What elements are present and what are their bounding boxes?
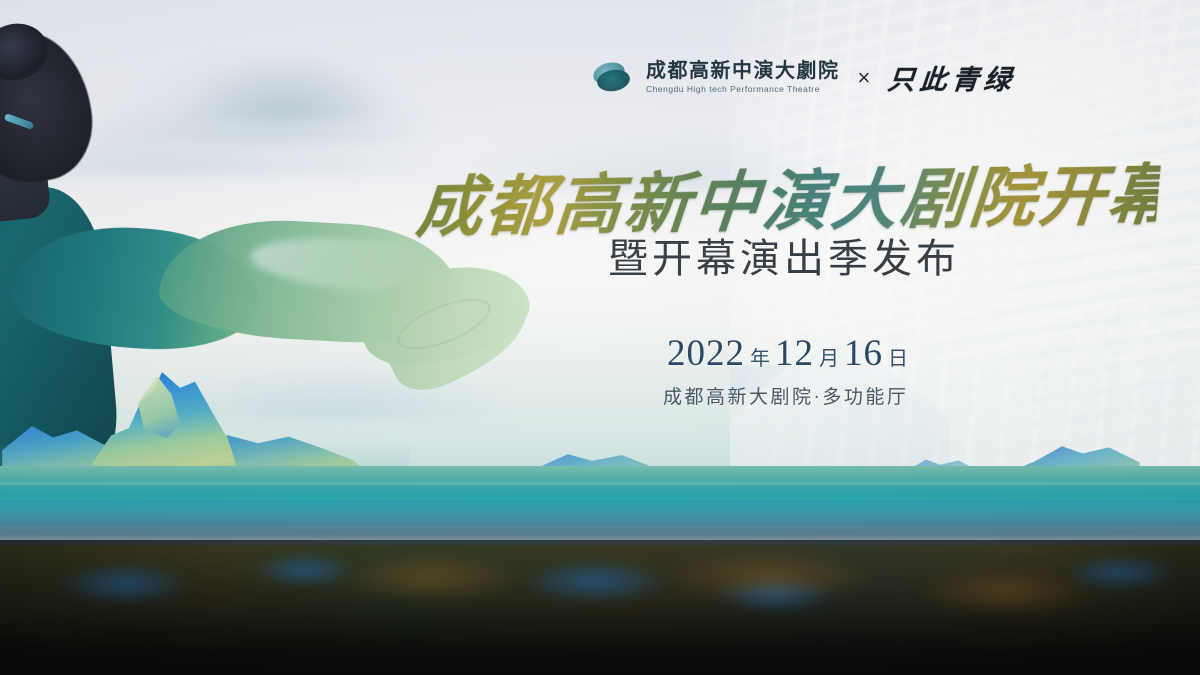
snow-fleck — [982, 140, 986, 144]
event-venue: 成都高新大剧院·多功能厅 — [663, 382, 908, 409]
snow-fleck — [1072, 18, 1076, 22]
band-vignette — [0, 540, 1200, 675]
snow-fleck — [946, 26, 951, 31]
water-bands — [0, 466, 1200, 540]
theatre-ellipse-logo-icon — [592, 61, 632, 95]
theatre-name-cn: 成都高新中演大劇院 — [646, 61, 840, 81]
dark-landscape-band — [0, 540, 1200, 675]
production-name-calligraphy: 只此青绿 — [887, 58, 1018, 97]
water-streak — [0, 512, 1200, 515]
theatre-name-en: Chengdu High tech Performance Theatre — [646, 85, 840, 94]
theatre-wordmark: 成都高新中演大劇院 Chengdu High tech Performance … — [646, 61, 840, 94]
event-year-unit: 年 — [750, 342, 770, 371]
water-streak — [0, 526, 1200, 529]
event-month: 12 — [775, 332, 814, 375]
water-streak — [0, 497, 1200, 500]
water-streak — [0, 482, 1200, 485]
collab-separator-icon: × — [858, 65, 871, 91]
event-date: 2022 年 12 月 16 日 — [667, 332, 913, 375]
poster-canvas: 成都高新中演大劇院 Chengdu High tech Performance … — [0, 0, 1200, 675]
header-logo-row: 成都高新中演大劇院 Chengdu High tech Performance … — [592, 58, 1016, 97]
event-year: 2022 — [667, 332, 745, 375]
event-day-unit: 日 — [888, 342, 908, 371]
page-subtitle: 暨开幕演出季发布 — [608, 226, 960, 284]
event-month-unit: 月 — [819, 342, 839, 371]
event-day: 16 — [844, 332, 883, 375]
